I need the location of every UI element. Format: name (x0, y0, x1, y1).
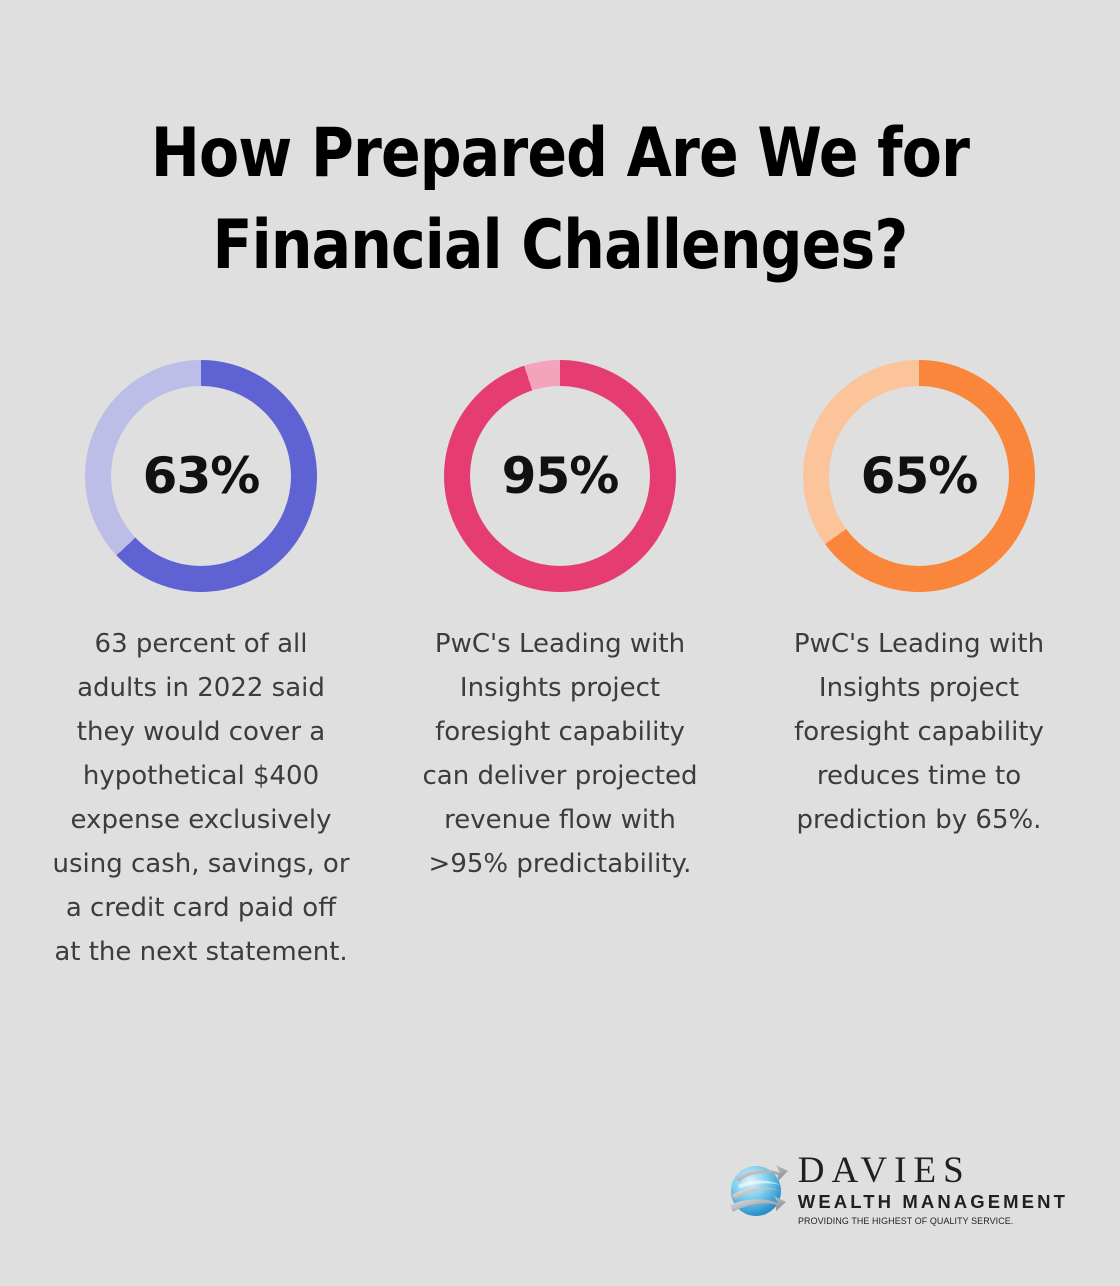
stat-column-1: 63% 63 percent of all adults in 2022 sai… (26, 360, 376, 974)
stat-columns: 63% 63 percent of all adults in 2022 sai… (26, 360, 1094, 974)
page-title-line-1: How Prepared Are We for (130, 108, 990, 200)
brand-logo-text: DAVIES WEALTH MANAGEMENT PROVIDING THE H… (798, 1152, 1068, 1228)
donut-chart-1: 63% (85, 360, 317, 592)
brand-logo: DAVIES WEALTH MANAGEMENT PROVIDING THE H… (726, 1152, 1068, 1228)
stat-column-2: 95% PwC's Leading with Insights project … (385, 360, 735, 886)
stat-column-3: 65% PwC's Leading with Insights project … (744, 360, 1094, 842)
donut-value-1: 63% (143, 451, 260, 501)
brand-tagline: PROVIDING THE HIGHEST OF QUALITY SERVICE… (798, 1215, 1049, 1228)
infographic-canvas: How Prepared Are We for Financial Challe… (0, 0, 1120, 1286)
donut-chart-2: 95% (444, 360, 676, 592)
brand-subtitle: WEALTH MANAGEMENT (798, 1191, 1068, 1213)
brand-name: DAVIES (798, 1152, 1068, 1190)
donut-center-2: 95% (470, 386, 650, 566)
globe-icon (726, 1155, 790, 1225)
stat-caption-3: PwC's Leading with Insights project fore… (769, 622, 1069, 842)
donut-chart-3: 65% (803, 360, 1035, 592)
donut-center-3: 65% (829, 386, 1009, 566)
stat-caption-1: 63 percent of all adults in 2022 said th… (51, 622, 351, 974)
stat-caption-2: PwC's Leading with Insights project fore… (410, 622, 710, 886)
donut-center-1: 63% (111, 386, 291, 566)
page-title-line-2: Financial Challenges? (130, 200, 990, 292)
donut-value-3: 65% (861, 451, 978, 501)
donut-value-2: 95% (502, 451, 619, 501)
page-title: How Prepared Are We for Financial Challe… (60, 108, 1060, 292)
